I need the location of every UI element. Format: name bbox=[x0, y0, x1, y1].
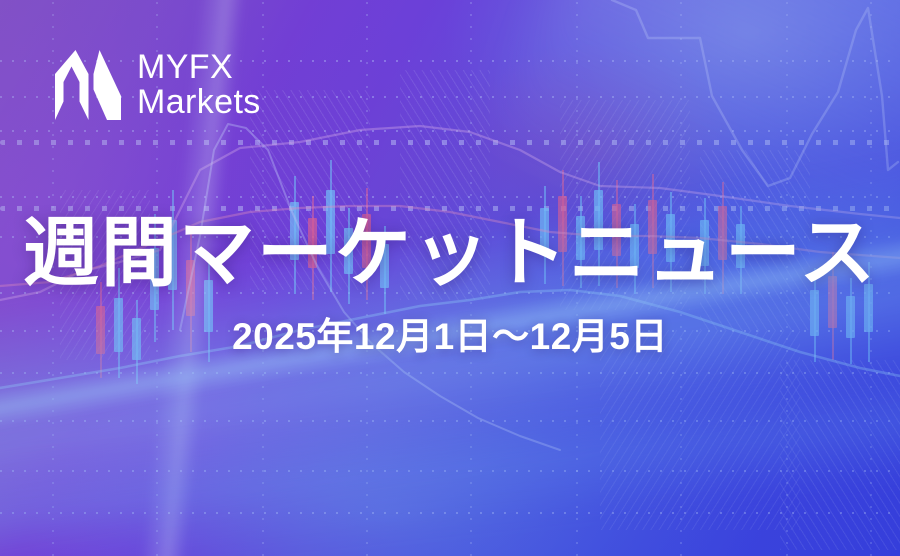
logo-wordmark-line-1: MYFX bbox=[137, 50, 261, 85]
banner-date-range: 2025年12月1日〜12月5日 bbox=[0, 318, 900, 355]
banner-content: MYFX Markets 週間マーケットニュース 2025年12月1日〜12月5… bbox=[0, 0, 900, 556]
weekly-market-news-banner: MYFX Markets 週間マーケットニュース 2025年12月1日〜12月5… bbox=[0, 0, 900, 556]
myfx-markets-logo: MYFX Markets bbox=[55, 48, 261, 122]
logo-wordmark-line-2: Markets bbox=[137, 85, 261, 120]
banner-headline: 週間マーケットニュース bbox=[0, 216, 900, 292]
myfx-double-chevron-mark bbox=[55, 48, 121, 122]
logo-wordmark: MYFX Markets bbox=[137, 50, 261, 119]
